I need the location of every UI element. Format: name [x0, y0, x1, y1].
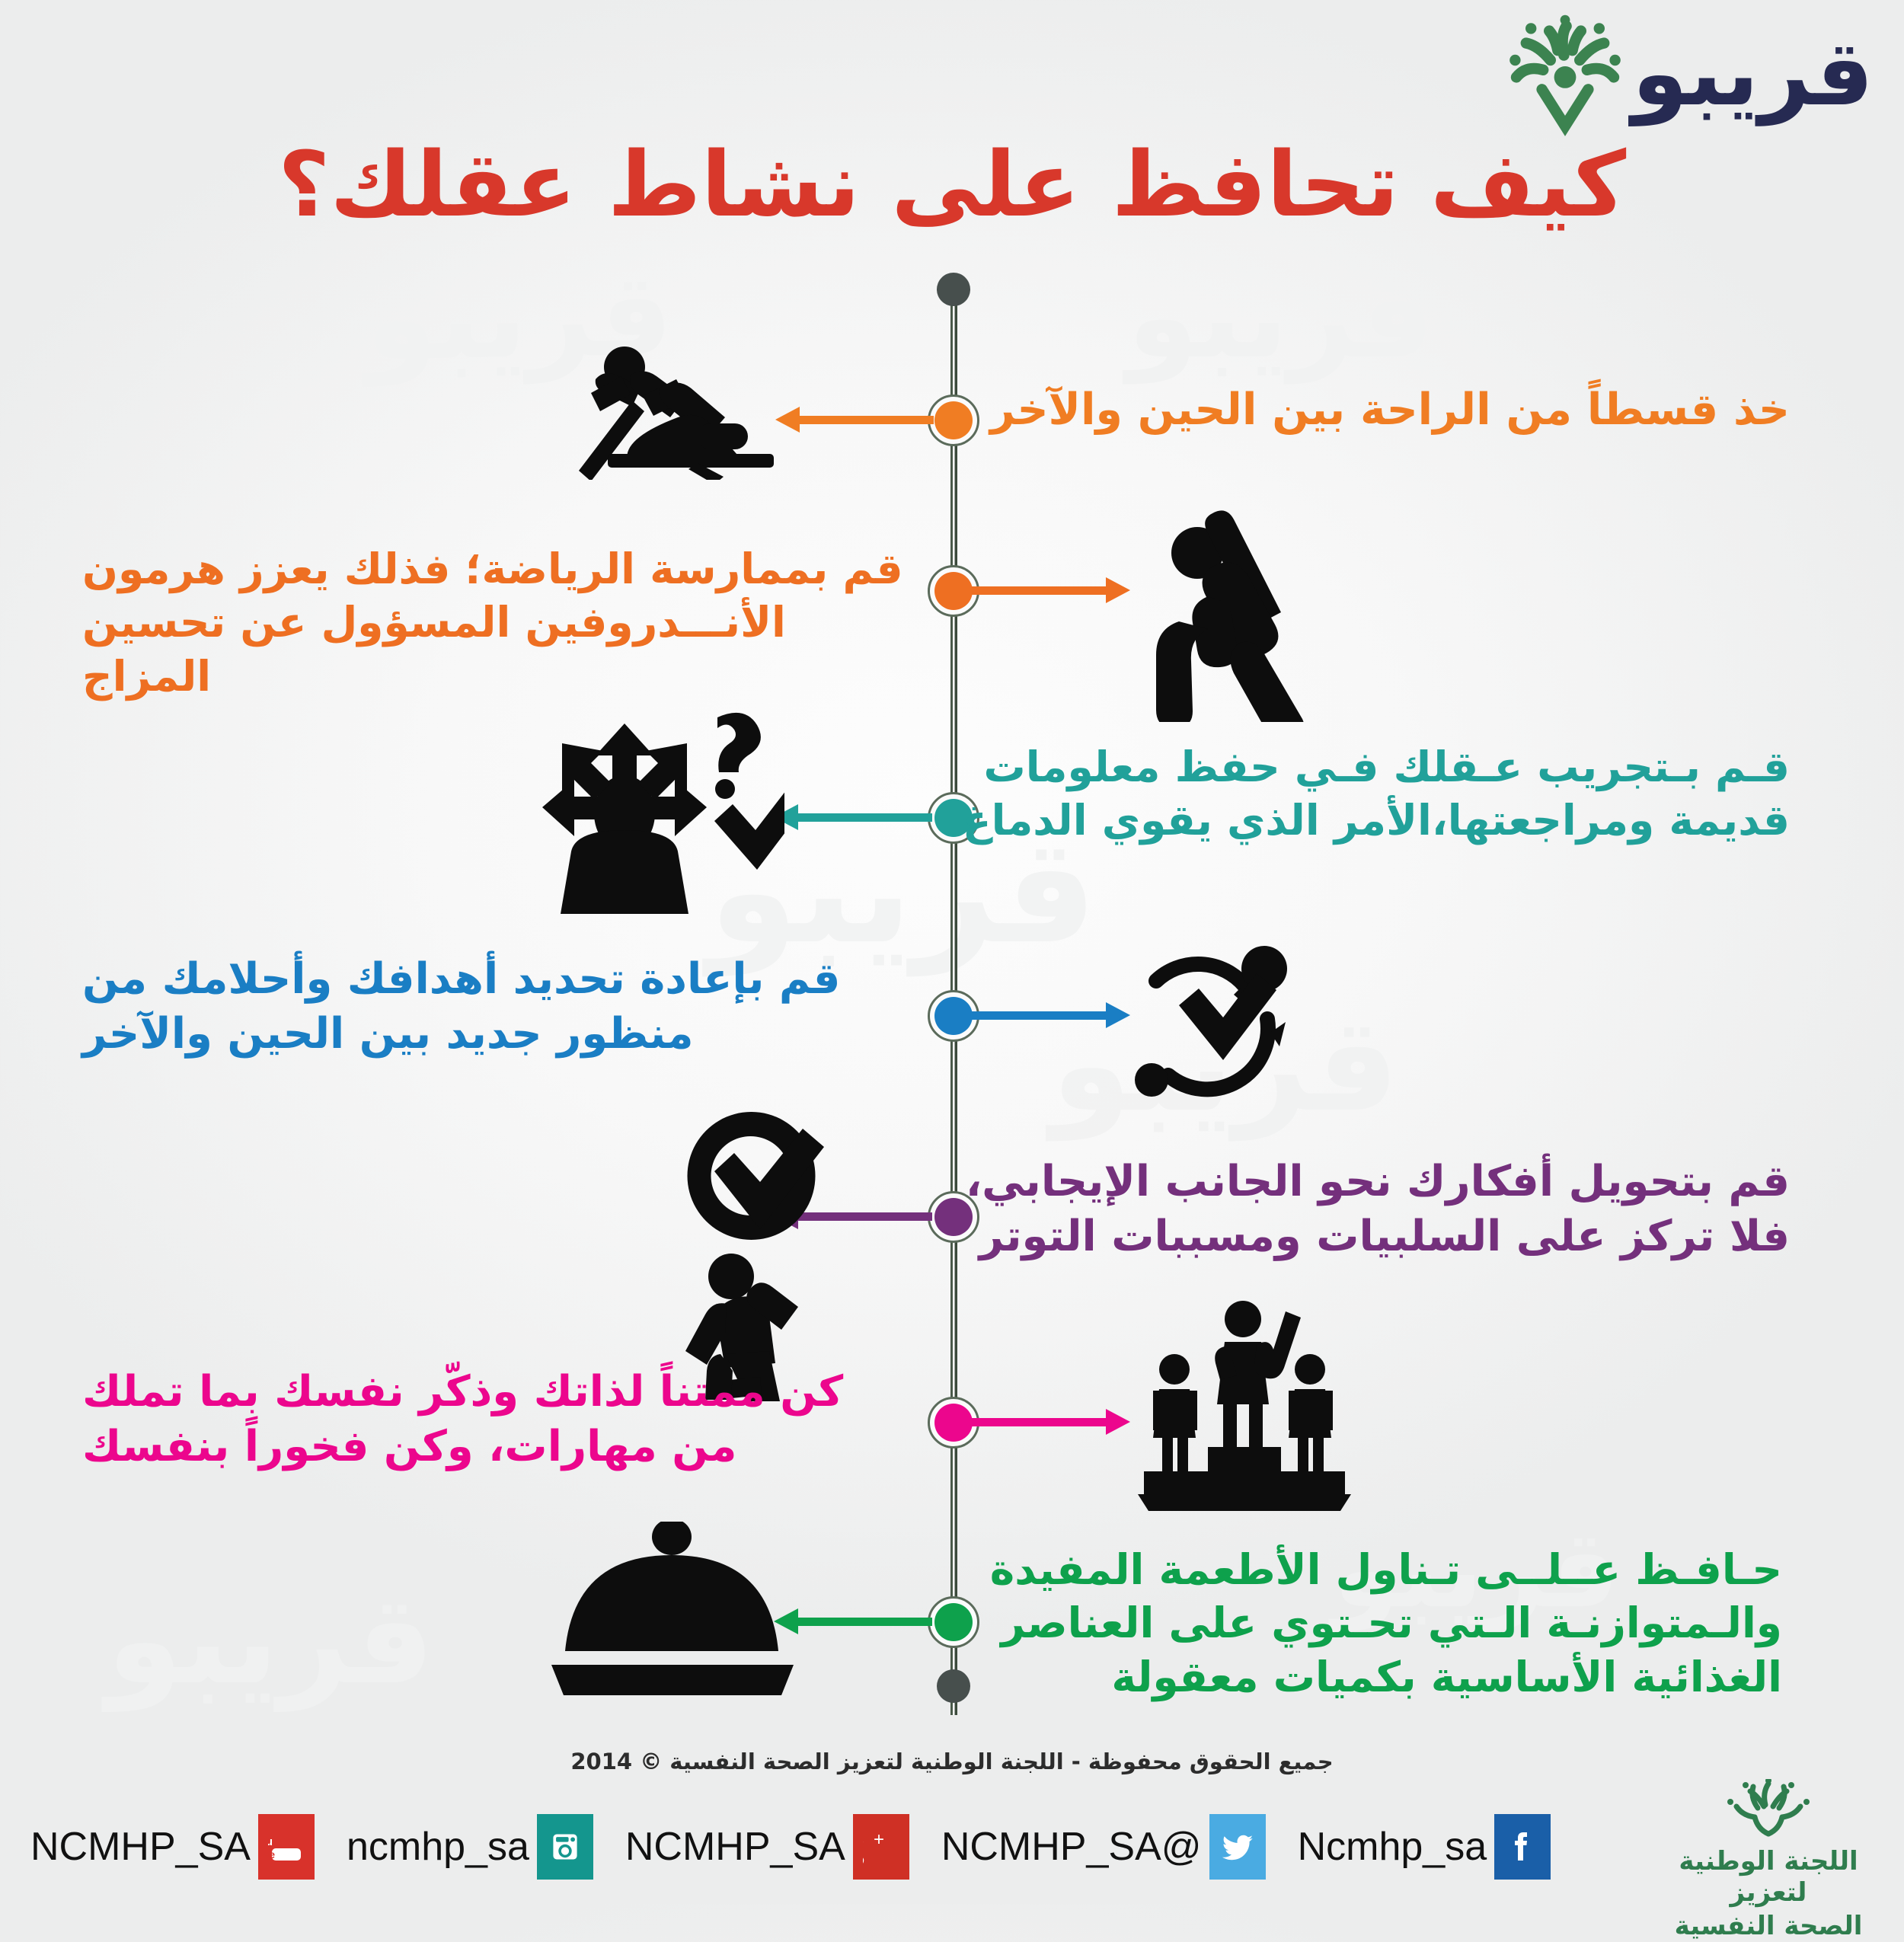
instagram-handle: ncmhp_sa [347, 1824, 529, 1870]
twitter-handle: @NCMHP_SA [941, 1824, 1202, 1870]
person-arrows-question-check-icon [526, 708, 784, 921]
item-text-6: كن ممتناً لذاتك وذكّر نفسك بما تملك من م… [82, 1365, 912, 1474]
facebook-icon[interactable] [1494, 1814, 1551, 1880]
social-link-facebook[interactable]: Ncmhp_sa [1298, 1814, 1551, 1880]
youtube-handle: NCMHP_SA [30, 1824, 251, 1870]
copyright-text: جميع الحقوق محفوظة - اللجنة الوطنية لتعز… [0, 1749, 1904, 1774]
item-text-3: قـم بـتجريب عـقلك فـي حفظ معلومات قديمة … [960, 740, 1790, 848]
food-cloche-tray-icon [526, 1522, 823, 1712]
ncmhp-line-2: الصحة النفسية [1654, 1911, 1883, 1942]
timeline-node-1[interactable] [928, 394, 979, 446]
watermark-brand: قريبو [107, 1569, 434, 1711]
timeline-cap-top [937, 273, 970, 306]
svg-text:Tube: Tube [268, 1848, 275, 1861]
item-text-7: حـافـظ عــلــى تـناول الأطعمة المفيدة وا… [944, 1543, 1782, 1704]
brand-name: قريبو [1632, 28, 1874, 118]
winner-podium-icon [1127, 1295, 1356, 1516]
refresh-check-circle-icon [1106, 935, 1327, 1126]
ncmhp-sunburst-logo-icon [1723, 1779, 1814, 1841]
social-links: Ncmhp_sa @NCMHP_SA g + NCMHP_SA ncmhp_sa [30, 1814, 1551, 1880]
item-text-4: قم بإعادة تحديد أهدافك وأحلامك من منظور … [82, 952, 912, 1061]
item-text-2: قم بممارسة الرياضة؛ فذلك يعزز هرمون الأن… [82, 542, 905, 703]
connector-6 [969, 1418, 1130, 1426]
connector-3 [774, 813, 932, 822]
timeline-dot-1 [934, 401, 973, 439]
social-link-twitter[interactable]: @NCMHP_SA [941, 1814, 1266, 1880]
person-stretching-exercise-icon [1127, 493, 1318, 722]
item-text-5: قم بتحويل أفكارك نحو الجانب الإيجابي، فل… [960, 1155, 1790, 1263]
google-plus-icon[interactable]: g + [853, 1814, 909, 1880]
person-holding-checkmark-icon [640, 1097, 853, 1401]
watermark-brand: قريبو [1127, 251, 1434, 384]
twitter-icon[interactable] [1209, 1814, 1266, 1880]
instagram-icon[interactable] [537, 1814, 593, 1880]
page-title: كيف تحافظ على نشاط عقلك؟ [0, 136, 1904, 235]
social-link-youtube[interactable]: You Tube NCMHP_SA [30, 1814, 315, 1880]
person-reclining-lounge-chair-icon [564, 335, 815, 480]
connector-2 [969, 586, 1130, 595]
svg-text:g: g [863, 1829, 864, 1865]
timeline-dot-4 [934, 997, 973, 1035]
svg-text:You: You [268, 1835, 273, 1848]
googleplus-handle: NCMHP_SA [625, 1824, 845, 1870]
brand-logo: قريبو [1504, 14, 1874, 143]
timeline-dot-2 [934, 572, 973, 610]
ncmhp-line-1: اللجنة الوطنية لتعزيز [1654, 1846, 1883, 1909]
people-check-logo-icon [1504, 14, 1626, 143]
social-link-instagram[interactable]: ncmhp_sa [347, 1814, 593, 1880]
item-text-1: خذ قسطاً من الراحة بين الحين والآخر [982, 382, 1790, 438]
svg-text:+: + [874, 1829, 884, 1850]
ncmhp-logo: اللجنة الوطنية لتعزيز الصحة النفسية [1654, 1779, 1883, 1942]
youtube-icon[interactable]: You Tube [258, 1814, 315, 1880]
timeline-dot-6 [934, 1404, 973, 1442]
social-link-googleplus[interactable]: g + NCMHP_SA [625, 1814, 909, 1880]
facebook-handle: Ncmhp_sa [1298, 1824, 1487, 1870]
